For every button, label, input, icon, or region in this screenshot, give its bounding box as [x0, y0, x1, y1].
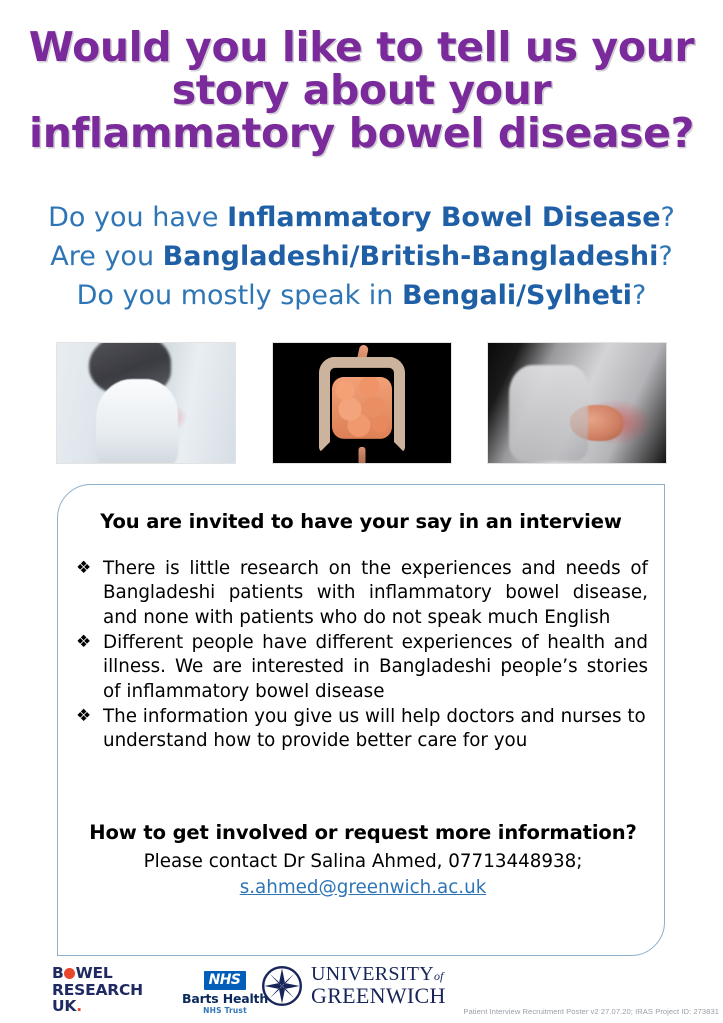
rectum-shape — [358, 447, 365, 464]
nhs-badge: NHS — [204, 971, 247, 990]
subtitle-questions: Do you have Inflammatory Bowel Disease? … — [14, 199, 709, 316]
greenwich-line-2: GREENWICH — [311, 985, 446, 1007]
greenwich-university-text: UNIVERSITY — [311, 963, 434, 985]
contact-phone-line: Please contact Dr Salina Ahmed, 07713448… — [86, 849, 640, 875]
diamond-bullet-icon: ❖ — [76, 557, 103, 581]
greenwich-line-1: UNIVERSITYof — [311, 965, 446, 985]
diamond-bullet-icon: ❖ — [76, 631, 103, 655]
subtitle-q1-suffix: ? — [661, 202, 675, 233]
subtitle-q2-prefix: Are you — [50, 241, 162, 272]
nhs-trust-subtitle: NHS Trust — [182, 1006, 268, 1015]
bruk-orange-period: . — [76, 997, 82, 1015]
contact-block: How to get involved or request more info… — [86, 819, 640, 898]
list-item: ❖ The information you give us will help … — [76, 705, 648, 754]
person-clutching-stomach-photo — [487, 342, 667, 464]
nhs-barts-health-logo: NHS Barts Health NHS Trust — [182, 969, 268, 1015]
subtitle-q1-bold: Inflammatory Bowel Disease — [227, 202, 660, 233]
subtitle-question-3: Do you mostly speak in Bengali/Sylheti? — [14, 277, 709, 316]
subtitle-q3-bold: Bengali/Sylheti — [402, 280, 632, 311]
list-item: ❖ There is little research on the experi… — [76, 557, 648, 630]
invitation-heading: You are invited to have your say in an i… — [58, 510, 664, 533]
invitation-bullet-list: ❖ There is little research on the experi… — [76, 557, 648, 755]
compass-rose-icon — [262, 966, 302, 1006]
university-of-greenwich-logo: UNIVERSITYof GREENWICH — [262, 965, 446, 1006]
bruk-orange-dot-icon — [64, 968, 75, 979]
nhs-trust-name: Barts Health — [182, 991, 268, 1006]
bruk-uk-text: UK — [52, 997, 76, 1015]
invitation-box: You are invited to have your say in an i… — [57, 484, 665, 956]
list-item-text: Different people have different experien… — [103, 631, 648, 704]
list-item: ❖ Different people have different experi… — [76, 631, 648, 704]
subtitle-question-2: Are you Bangladeshi/British-Bangladeshi? — [14, 238, 709, 277]
list-item-text: There is little research on the experien… — [103, 557, 648, 630]
bruk-b-letter: B — [52, 964, 64, 982]
photo-strip — [56, 342, 667, 464]
woman-holding-abdomen-photo — [56, 342, 236, 464]
subtitle-q2-suffix: ? — [658, 241, 672, 272]
bruk-line-1: BWEL — [52, 965, 143, 982]
footer-logos: BWEL RESEARCH UK. NHS Barts Health NHS T… — [0, 960, 723, 1023]
subtitle-q3-prefix: Do you mostly speak in — [77, 280, 402, 311]
contact-email-link[interactable]: s.ahmed@greenwich.ac.uk — [240, 877, 487, 898]
small-intestine-coils-shape — [332, 377, 392, 439]
subtitle-q3-suffix: ? — [632, 280, 646, 311]
page-title: Would you like to tell us your story abo… — [14, 26, 709, 155]
diamond-bullet-icon: ❖ — [76, 705, 103, 729]
intestines-illustration-photo — [272, 342, 452, 464]
subtitle-q2-bold: Bangladeshi/British-Bangladeshi — [163, 241, 659, 272]
subtitle-question-1: Do you have Inflammatory Bowel Disease? — [14, 199, 709, 238]
list-item-text: The information you give us will help do… — [103, 705, 648, 754]
bowel-research-uk-logo: BWEL RESEARCH UK. — [52, 965, 143, 1015]
bruk-line-3: UK. — [52, 998, 143, 1015]
document-version-fineprint: Patient Interview Recruitment Poster v2 … — [463, 1007, 719, 1016]
greenwich-wordmark: UNIVERSITYof GREENWICH — [311, 965, 446, 1006]
greenwich-of-text: of — [434, 969, 443, 983]
intestine-graphic — [319, 357, 405, 453]
bruk-line-2: RESEARCH — [52, 982, 143, 999]
subtitle-q1-prefix: Do you have — [48, 202, 227, 233]
contact-heading: How to get involved or request more info… — [86, 819, 640, 847]
bruk-wel-letters: WEL — [76, 964, 113, 982]
